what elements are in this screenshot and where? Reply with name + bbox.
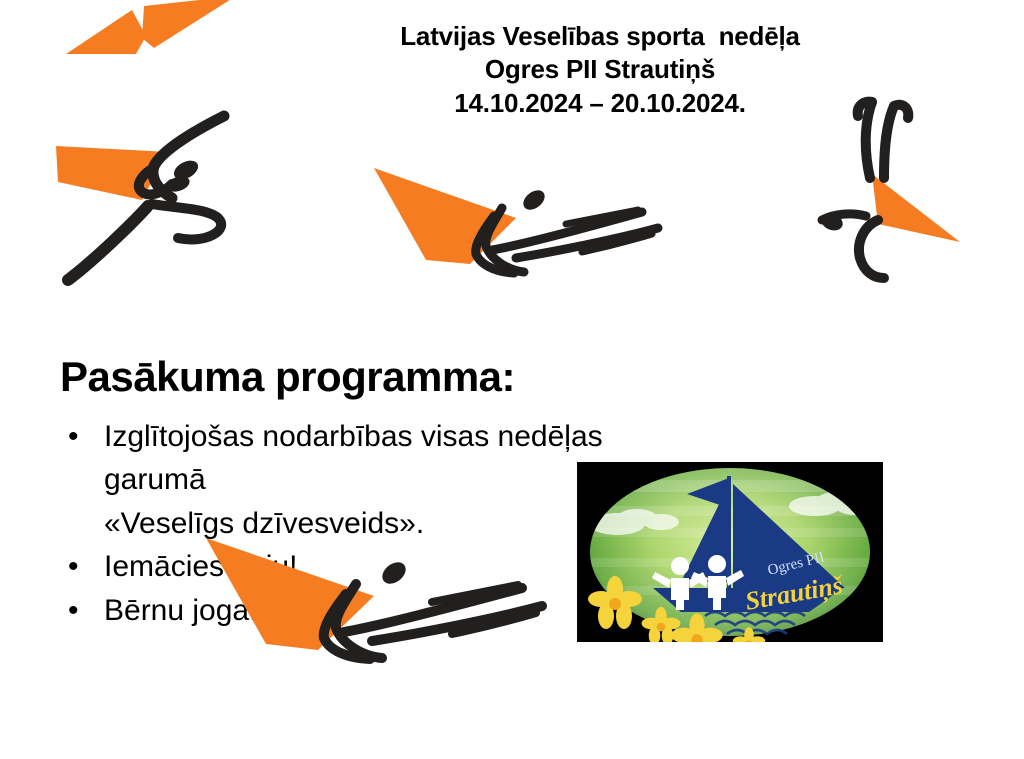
bullet-marker-icon: • [68,546,79,589]
runner-figure-bottom [196,528,556,663]
list-item-label: Izglītojošas nodarbības visas nedēļas ga… [104,416,658,501]
title-line-3: 14.10.2024 – 20.10.2024. [300,87,900,120]
kindergarten-logo-svg: Ogres PII Strautiņš [577,462,883,642]
program-heading: Pasākuma programma: [60,353,515,401]
kindergarten-logo: Ogres PII Strautiņš [577,462,883,642]
kite-shape-top-left [58,0,248,68]
runner-figure-center [366,160,666,280]
bullet-marker-icon: • [68,416,79,459]
runner-figure-right-svg [820,94,1000,284]
sponsor-logos: LTSA 75 [0,688,1024,759]
runner-figure-right [820,94,1000,284]
title-line-2: Ogres PII Strautiņš [300,53,900,86]
title-line-1: Latvijas Veselības sporta nedēļa [300,20,900,53]
runner-figure-bottom-svg [196,528,556,663]
runner-figure-left-svg [46,104,276,294]
runner-figure-left [46,104,276,294]
list-item: • Izglītojošas nodarbības visas nedēļas … [58,416,658,501]
runner-figure-center-svg [366,160,666,280]
slide-canvas: Latvijas Veselības sporta nedēļa Ogres P… [0,0,1024,759]
kite-shape-top-left-svg [58,0,248,68]
bullet-marker-icon: • [68,590,79,633]
page-title: Latvijas Veselības sporta nedēļa Ogres P… [300,20,900,120]
